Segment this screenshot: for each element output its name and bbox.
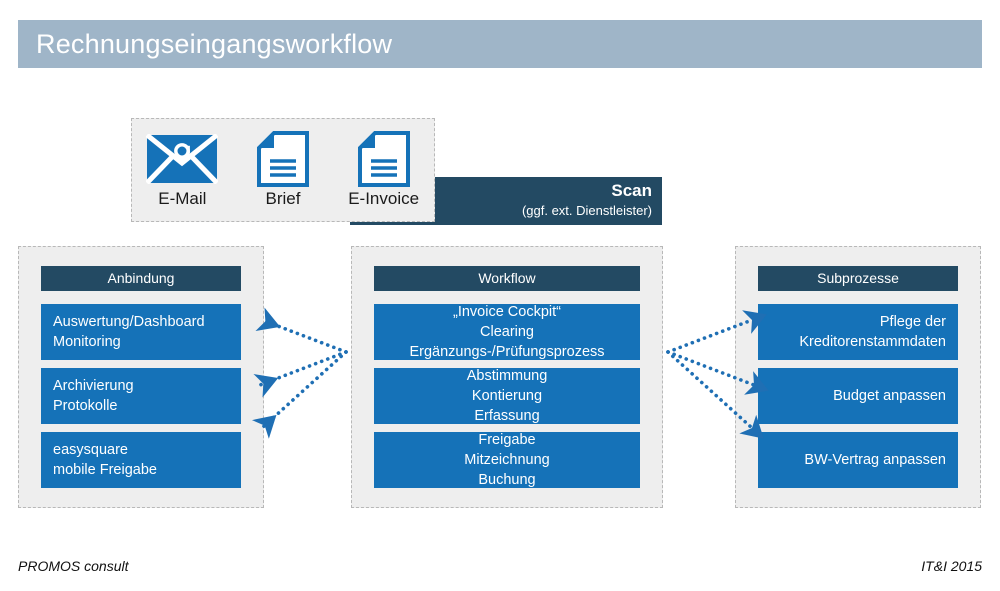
arrow-workflow-to-archivierung bbox=[260, 352, 346, 385]
document-icon bbox=[338, 131, 430, 187]
card-abstimmung[interactable]: Abstimmung Kontierung Erfassung bbox=[374, 368, 640, 424]
input-channel-brief[interactable]: Brief bbox=[237, 131, 329, 211]
card-line: Kreditorenstammdaten bbox=[758, 332, 946, 352]
card-invoice-cockpit[interactable]: „Invoice Cockpit“ Clearing Ergänzungs-/P… bbox=[374, 304, 640, 360]
scan-title: Scan bbox=[522, 180, 652, 202]
column-header: Subprozesse bbox=[758, 266, 958, 291]
card-line: Freigabe bbox=[374, 430, 640, 450]
card-budget-anpassen[interactable]: Budget anpassen bbox=[758, 368, 958, 424]
card-line: Archivierung bbox=[53, 376, 241, 396]
card-freigabe[interactable]: Freigabe Mitzeichnung Buchung bbox=[374, 432, 640, 488]
column-subprozesse: Subprozesse Pflege der Kreditorenstammda… bbox=[735, 246, 981, 508]
input-channel-einvoice[interactable]: E-Invoice bbox=[338, 131, 430, 211]
slide-canvas: Rechnungseingangsworkflow Scan (ggf. ext… bbox=[0, 0, 1000, 591]
card-pflege-kreditorenstammdaten[interactable]: Pflege der Kreditorenstammdaten bbox=[758, 304, 958, 360]
column-header: Anbindung bbox=[41, 266, 241, 291]
card-archivierung[interactable]: Archivierung Protokolle bbox=[41, 368, 241, 424]
card-line: Auswertung/Dashboard bbox=[53, 312, 241, 332]
scan-banner-text: Scan (ggf. ext. Dienstleister) bbox=[522, 180, 652, 220]
card-line: Kontierung bbox=[374, 386, 640, 406]
card-line: Monitoring bbox=[53, 332, 241, 352]
arrow-workflow-to-auswertung bbox=[262, 320, 346, 352]
card-line: BW-Vertrag anpassen bbox=[758, 450, 946, 470]
card-line: Clearing bbox=[374, 322, 640, 342]
card-line: Budget anpassen bbox=[758, 386, 946, 406]
card-line: Ergänzungs-/Prüfungsprozess bbox=[374, 342, 640, 362]
card-line: easysquare bbox=[53, 440, 241, 460]
card-easysquare[interactable]: easysquare mobile Freigabe bbox=[41, 432, 241, 488]
card-line: mobile Freigabe bbox=[53, 460, 241, 480]
arrow-workflow-to-easysquare bbox=[262, 352, 346, 428]
card-line: „Invoice Cockpit“ bbox=[374, 302, 640, 322]
card-line: Buchung bbox=[374, 470, 640, 490]
card-auswertung-dashboard[interactable]: Auswertung/Dashboard Monitoring bbox=[41, 304, 241, 360]
page-title: Rechnungseingangsworkflow bbox=[36, 20, 392, 68]
card-line: Pflege der bbox=[758, 312, 946, 332]
input-channels-panel: E-Mail Brief bbox=[131, 118, 435, 222]
card-line: Mitzeichnung bbox=[374, 450, 640, 470]
input-channel-email[interactable]: E-Mail bbox=[136, 131, 228, 211]
card-line: Erfassung bbox=[374, 406, 640, 426]
input-channel-label: E-Invoice bbox=[338, 187, 430, 211]
scan-subtitle: (ggf. ext. Dienstleister) bbox=[522, 202, 652, 220]
card-line: Protokolle bbox=[53, 396, 241, 416]
column-workflow: Workflow „Invoice Cockpit“ Clearing Ergä… bbox=[351, 246, 663, 508]
input-channel-label: Brief bbox=[237, 187, 329, 211]
footer-right: IT&I 2015 bbox=[921, 558, 982, 574]
card-line: Abstimmung bbox=[374, 366, 640, 386]
card-bw-vertrag-anpassen[interactable]: BW-Vertrag anpassen bbox=[758, 432, 958, 488]
document-icon bbox=[237, 131, 329, 187]
column-anbindung: Anbindung Auswertung/Dashboard Monitorin… bbox=[18, 246, 264, 508]
email-envelope-icon bbox=[136, 131, 228, 187]
column-header: Workflow bbox=[374, 266, 640, 291]
input-channel-label: E-Mail bbox=[136, 187, 228, 211]
footer-left: PROMOS consult bbox=[18, 558, 128, 574]
